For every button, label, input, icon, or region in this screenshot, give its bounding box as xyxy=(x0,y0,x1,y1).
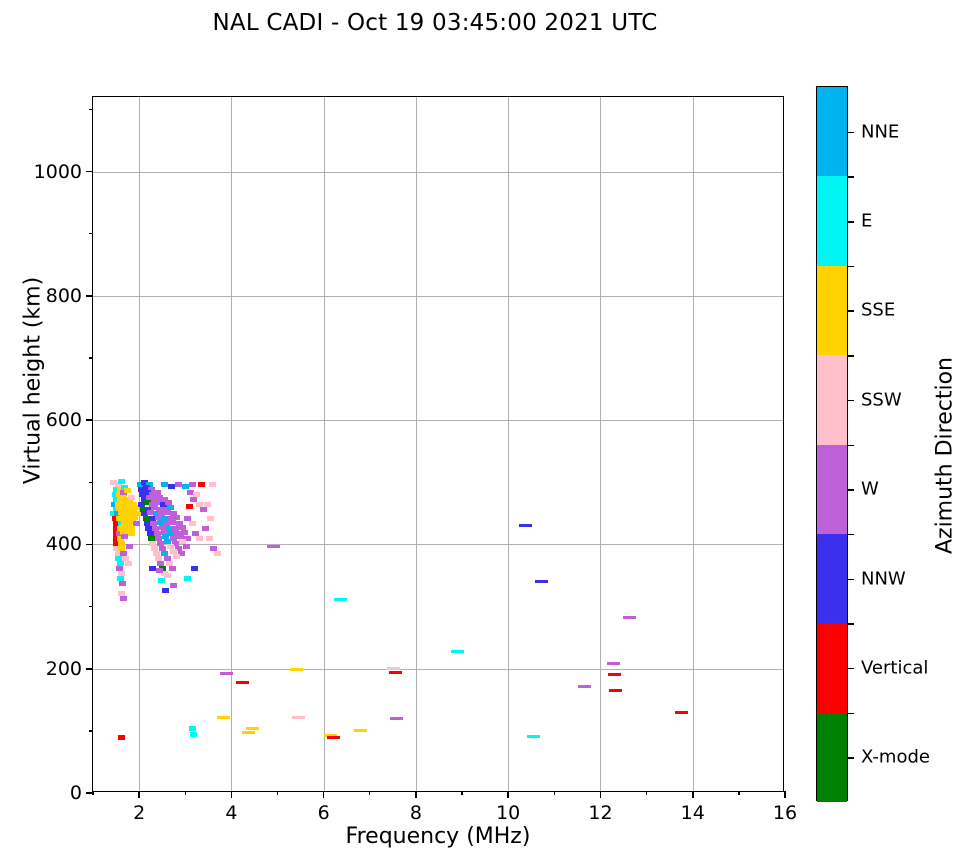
x-axis-minor-tick xyxy=(461,791,462,795)
echo-point xyxy=(292,716,305,719)
y-axis-minor-tick xyxy=(89,730,93,731)
x-axis-tick xyxy=(323,791,325,798)
x-axis-tick-label: 10 xyxy=(496,802,520,824)
echo-point xyxy=(236,681,249,684)
echo-point xyxy=(183,544,190,549)
echo-point xyxy=(120,596,127,601)
echo-point xyxy=(164,573,171,578)
colorbar-tick-label: Vertical xyxy=(861,657,928,678)
x-axis-minor-tick xyxy=(738,791,739,795)
echo-point xyxy=(578,685,591,688)
x-axis-tick xyxy=(784,791,786,798)
echo-point xyxy=(173,554,180,559)
y-axis-minor-tick xyxy=(89,606,93,607)
echo-point xyxy=(217,716,230,719)
echo-point xyxy=(200,507,207,512)
x-axis-tick-label: 2 xyxy=(133,802,145,824)
echo-point xyxy=(607,662,620,665)
y-axis-tick xyxy=(86,171,93,173)
x-axis-tick-label: 14 xyxy=(681,802,705,824)
echo-point xyxy=(214,551,221,556)
echo-point xyxy=(128,531,135,536)
x-axis-minor-tick xyxy=(92,791,93,795)
page-title: NAL CADI - Oct 19 03:45:00 2021 UTC xyxy=(0,10,870,36)
plot-area: 02004006008001000246810121416 xyxy=(92,96,784,792)
x-axis-label: Frequency (MHz) xyxy=(92,824,784,849)
x-axis-tick-label: 16 xyxy=(773,802,797,824)
echo-point xyxy=(209,482,216,487)
colorbar-tick-label: SSW xyxy=(861,389,902,410)
echo-point xyxy=(451,650,464,653)
y-axis-tick xyxy=(86,544,93,546)
echo-point xyxy=(246,727,259,730)
echo-point xyxy=(242,731,255,734)
echo-point xyxy=(190,732,197,737)
y-axis-tick-label: 600 xyxy=(46,409,82,431)
echo-point xyxy=(334,598,347,601)
colorbar-tick xyxy=(847,132,854,134)
echo-point xyxy=(675,711,688,714)
echo-point xyxy=(169,566,176,571)
colorbar-segment-sse xyxy=(817,266,847,355)
colorbar-tick-label: NNE xyxy=(861,121,899,142)
echo-point xyxy=(118,479,125,484)
echo-point xyxy=(206,536,213,541)
echo-point xyxy=(387,667,400,670)
x-axis-tick xyxy=(507,791,509,798)
echo-point xyxy=(158,578,165,583)
colorbar-tick xyxy=(847,757,854,759)
echo-point xyxy=(170,583,177,588)
figure-root: NAL CADI - Oct 19 03:45:00 2021 UTC 0200… xyxy=(0,0,958,857)
echo-point xyxy=(186,504,193,509)
x-axis-tick-label: 6 xyxy=(318,802,330,824)
echo-point xyxy=(290,668,303,671)
echo-point xyxy=(220,672,233,675)
x-axis-tick xyxy=(415,791,417,798)
echo-point xyxy=(389,671,402,674)
colorbar-tick-label: NNW xyxy=(861,568,906,589)
y-axis-tick-label: 800 xyxy=(46,285,82,307)
echo-point xyxy=(204,502,211,507)
echo-point xyxy=(196,536,203,541)
echo-point xyxy=(390,717,403,720)
x-axis-tick xyxy=(231,791,233,798)
echo-point xyxy=(354,729,367,732)
echo-point xyxy=(156,568,163,573)
colorbar-segment-x-mode xyxy=(817,713,847,802)
echo-point xyxy=(189,482,196,487)
colorbar: NNEESSESSWWNNWVerticalX-mode xyxy=(816,86,848,801)
x-axis-minor-tick xyxy=(277,791,278,795)
colorbar-segment-vertical xyxy=(817,623,847,712)
y-axis-tick-label: 200 xyxy=(46,658,82,680)
echo-point xyxy=(184,576,191,581)
y-axis-tick xyxy=(86,668,93,670)
y-axis-minor-tick xyxy=(89,482,93,483)
echo-point xyxy=(608,673,621,676)
echo-point xyxy=(527,735,540,738)
y-axis-tick-label: 1000 xyxy=(34,161,82,183)
colorbar-boundary-tick xyxy=(847,534,854,536)
y-axis-minor-tick xyxy=(89,357,93,358)
colorbar-tick-label: X-mode xyxy=(861,747,930,768)
colorbar-boundary-tick xyxy=(847,713,854,715)
y-axis-tick-label: 0 xyxy=(70,782,82,804)
scatter-data-layer xyxy=(93,97,783,791)
colorbar-tick-label: SSE xyxy=(861,300,895,321)
x-axis-minor-tick xyxy=(185,791,186,795)
x-axis-minor-tick xyxy=(646,791,647,795)
echo-point xyxy=(189,521,196,526)
colorbar-boundary-tick xyxy=(847,176,854,178)
echo-point xyxy=(125,561,132,566)
y-axis-tick-label: 400 xyxy=(46,533,82,555)
echo-point xyxy=(118,735,125,740)
echo-point xyxy=(198,482,205,487)
colorbar-label: Azimuth Direction xyxy=(933,306,958,606)
echo-point xyxy=(535,580,548,583)
x-axis-minor-tick xyxy=(369,791,370,795)
colorbar-segment-nne xyxy=(817,87,847,176)
x-axis-tick xyxy=(138,791,140,798)
colorbar-tick xyxy=(847,310,854,312)
colorbar-boundary-tick xyxy=(847,355,854,357)
echo-point xyxy=(609,689,622,692)
colorbar-tick xyxy=(847,221,854,223)
echo-point xyxy=(327,736,340,739)
y-axis-minor-tick xyxy=(89,233,93,234)
x-axis-tick xyxy=(600,791,602,798)
y-axis-label: Virtual height (km) xyxy=(21,211,46,551)
colorbar-tick-label: E xyxy=(861,211,872,232)
colorbar-tick xyxy=(847,489,854,491)
echo-point xyxy=(119,581,126,586)
colorbar-boundary-tick xyxy=(847,623,854,625)
colorbar-boundary-tick xyxy=(847,266,854,268)
colorbar-segment-w xyxy=(817,445,847,534)
echo-point xyxy=(519,524,532,527)
echo-point xyxy=(207,516,214,521)
x-axis-tick-label: 4 xyxy=(225,802,237,824)
colorbar-tick xyxy=(847,400,854,402)
echo-point xyxy=(189,726,196,731)
echo-point xyxy=(202,526,209,531)
x-axis-tick xyxy=(692,791,694,798)
colorbar-tick-label: W xyxy=(861,479,879,500)
colorbar-segment-nnw xyxy=(817,534,847,623)
y-axis-minor-tick xyxy=(89,109,93,110)
colorbar-segment-e xyxy=(817,176,847,265)
colorbar-tick xyxy=(847,579,854,581)
y-axis-tick xyxy=(86,295,93,297)
echo-point xyxy=(124,488,131,493)
y-axis-tick xyxy=(86,419,93,421)
echo-point xyxy=(191,566,198,571)
echo-point xyxy=(267,545,280,548)
echo-point xyxy=(162,588,169,593)
echo-point xyxy=(126,544,133,549)
x-axis-tick-label: 12 xyxy=(588,802,612,824)
x-axis-minor-tick xyxy=(554,791,555,795)
x-axis-tick-label: 8 xyxy=(410,802,422,824)
echo-point xyxy=(623,616,636,619)
colorbar-boundary-tick xyxy=(847,445,854,447)
colorbar-segment-ssw xyxy=(817,355,847,444)
echo-point xyxy=(121,534,128,539)
colorbar-tick xyxy=(847,668,854,670)
